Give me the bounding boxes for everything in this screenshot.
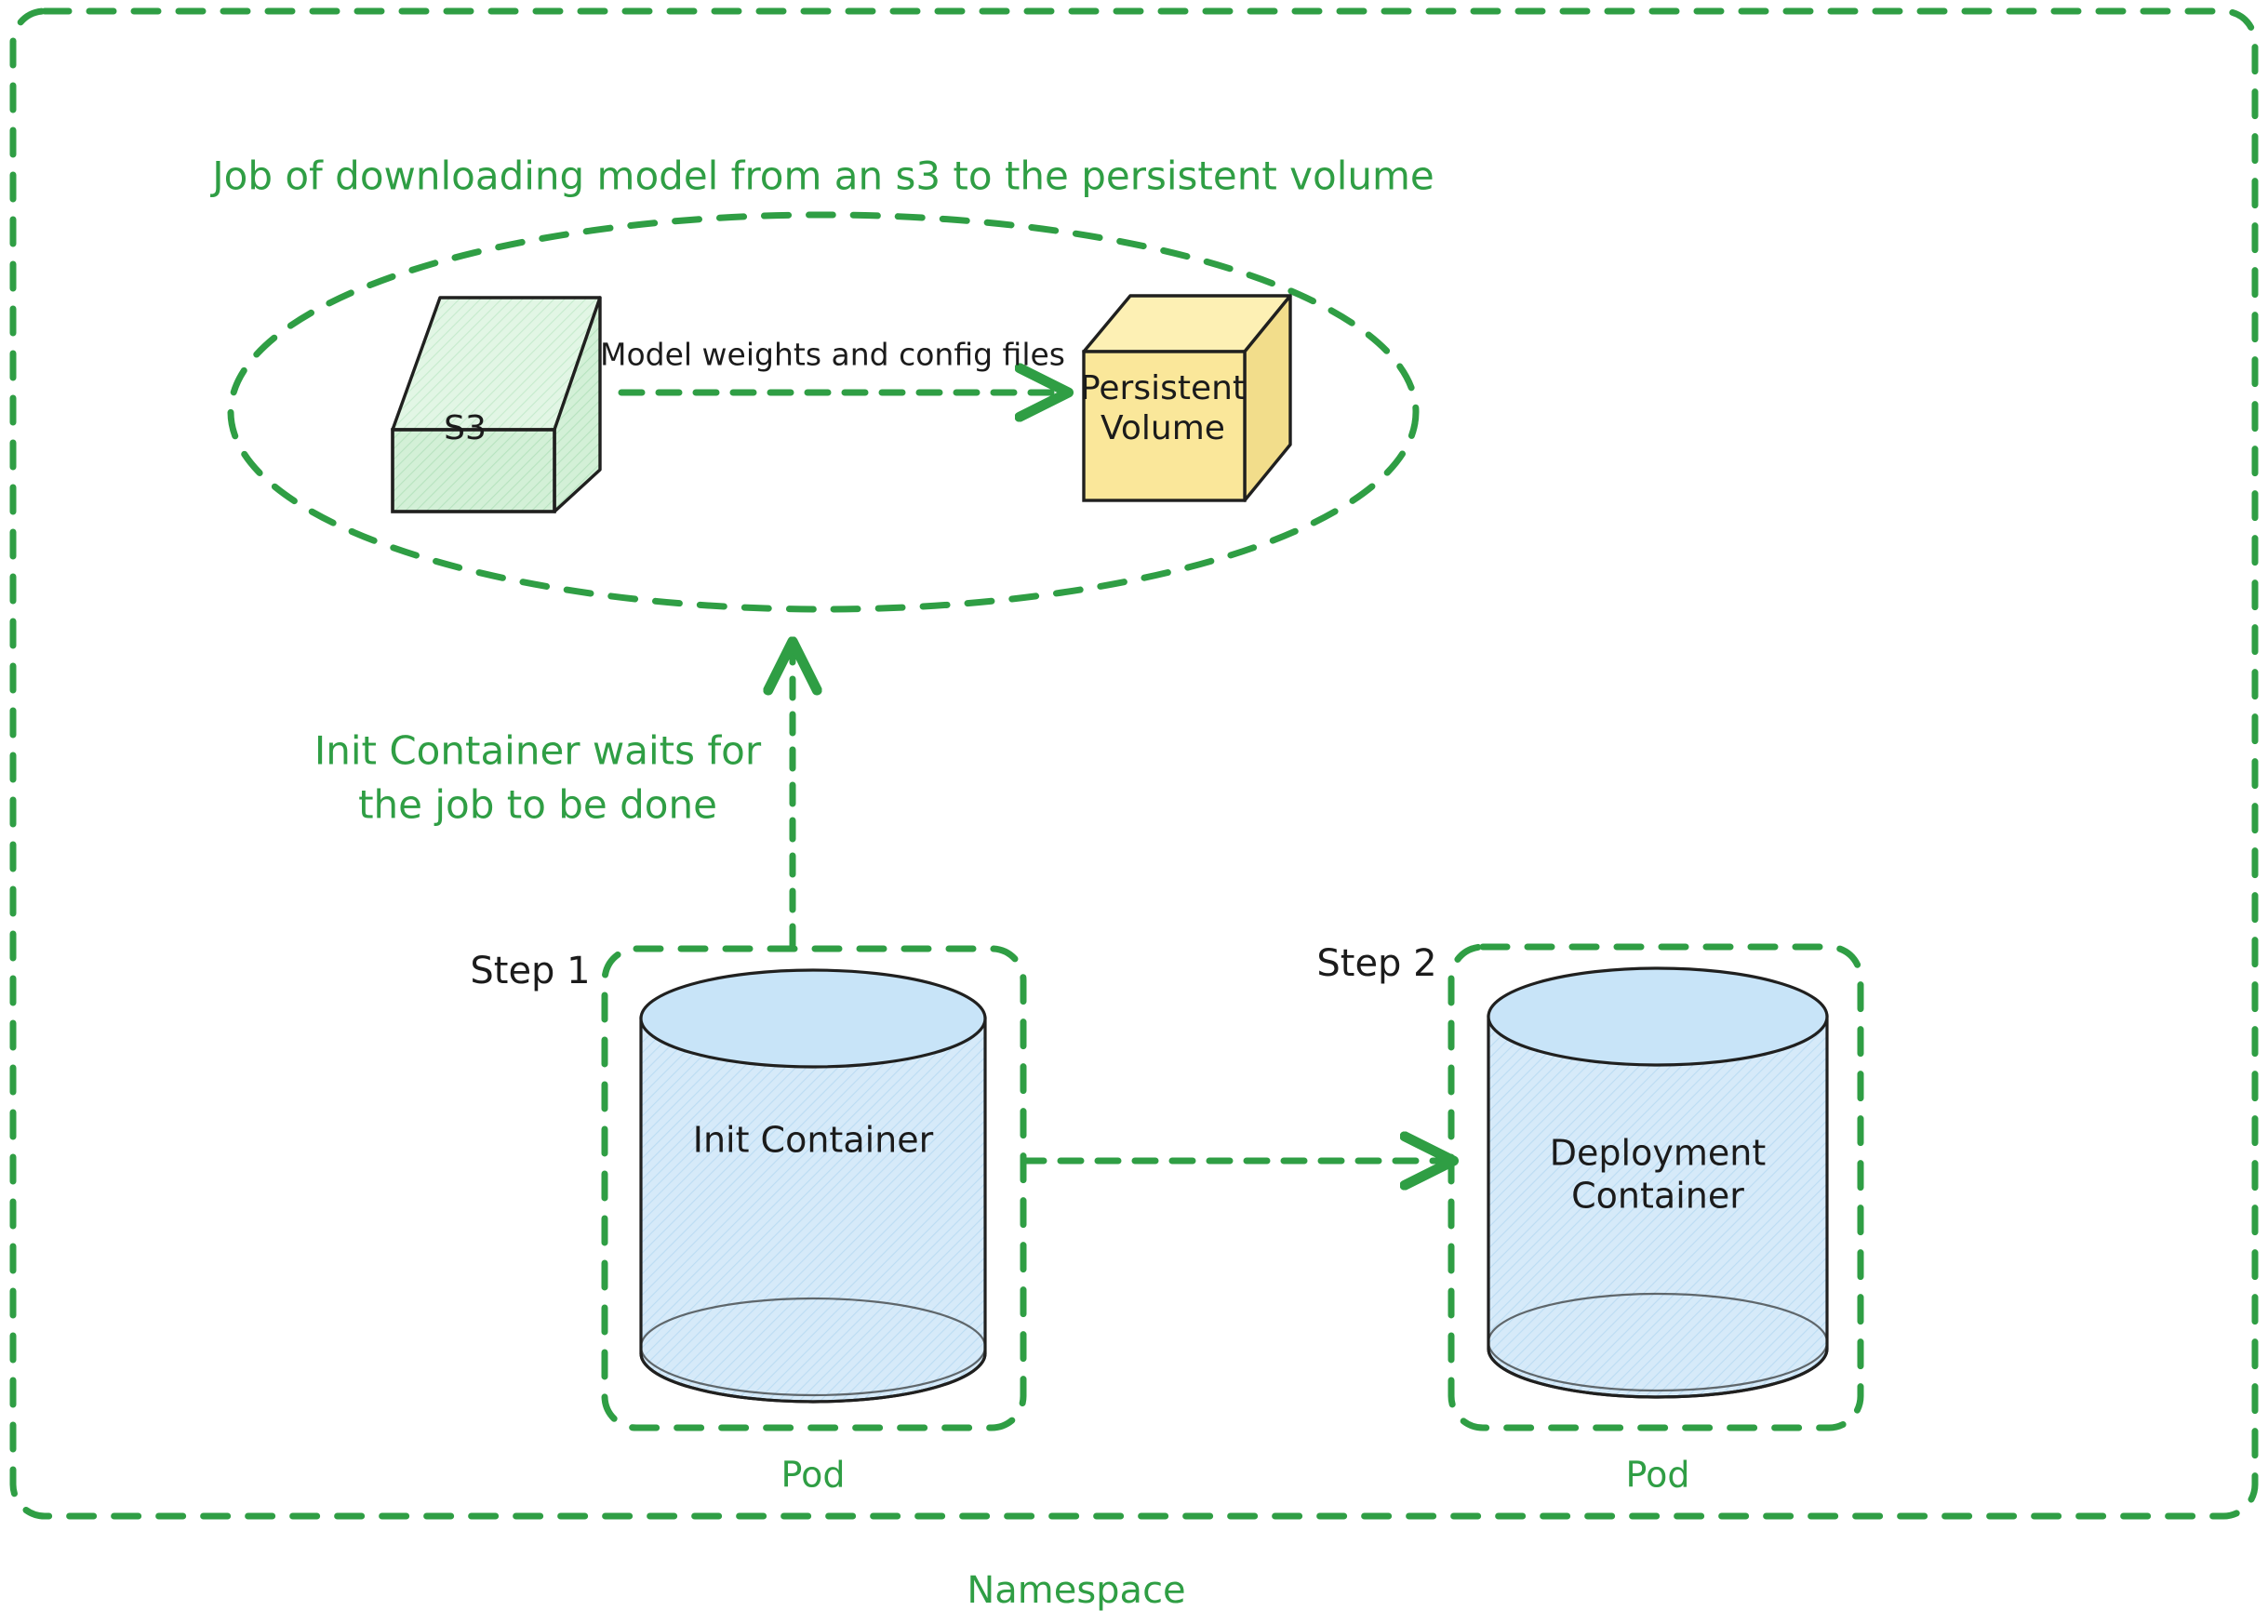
deployment-container-label-line2: Container [1571,1176,1744,1217]
diagram-canvas: Job of downloading model from an s3 to t… [0,0,2268,1624]
job-group-title: Job of downloading model from an s3 to t… [209,153,1434,199]
namespace-label: Namespace [967,1569,1185,1612]
model-transfer-arrow-label: Model weights and config files [600,337,1065,373]
init-container-cylinder [641,970,985,1402]
pod-1-label: Pod [781,1455,846,1496]
step-1-label: Step 1 [470,950,590,992]
pod-2-label: Pod [1626,1455,1690,1496]
s3-cube [393,298,600,512]
persistent-volume-label-line1: Persistent [1080,369,1246,407]
s3-label: S3 [444,409,487,447]
deployment-container-label-line1: Deployment [1550,1133,1766,1174]
step-2-label: Step 2 [1316,942,1436,985]
init-container-label: Init Container [693,1120,934,1161]
persistent-volume-label-line2: Volume [1101,409,1225,447]
init-wait-label-line1: Init Container waits for [314,728,762,774]
diagram-svg: Job of downloading model from an s3 to t… [0,0,2268,1624]
init-wait-label-line2: the job to be done [358,782,717,828]
